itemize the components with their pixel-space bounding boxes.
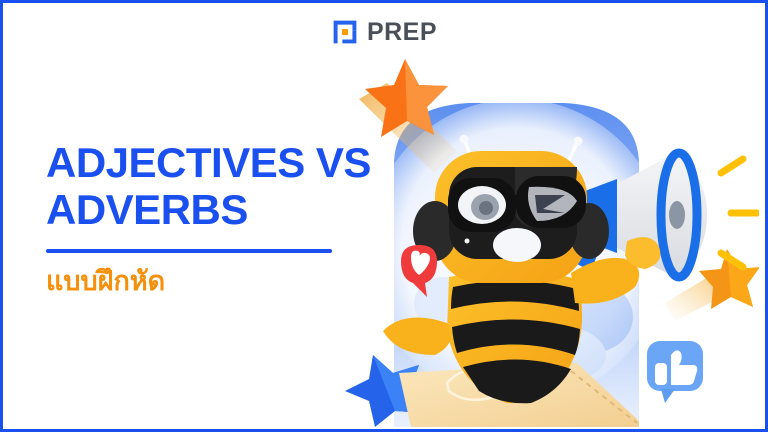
sound-rays bbox=[721, 159, 757, 267]
slide-frame: PREP ADJECTIVES VS ADVERBS แบบฝึกหัด bbox=[0, 0, 768, 432]
brand-name: PREP bbox=[367, 20, 437, 45]
prep-logo-icon bbox=[331, 18, 359, 46]
bee-mascot-illustration bbox=[339, 55, 759, 427]
brand-header: PREP bbox=[3, 18, 765, 46]
title-divider bbox=[46, 249, 332, 253]
thumbs-up-reaction-bubble bbox=[647, 341, 703, 403]
